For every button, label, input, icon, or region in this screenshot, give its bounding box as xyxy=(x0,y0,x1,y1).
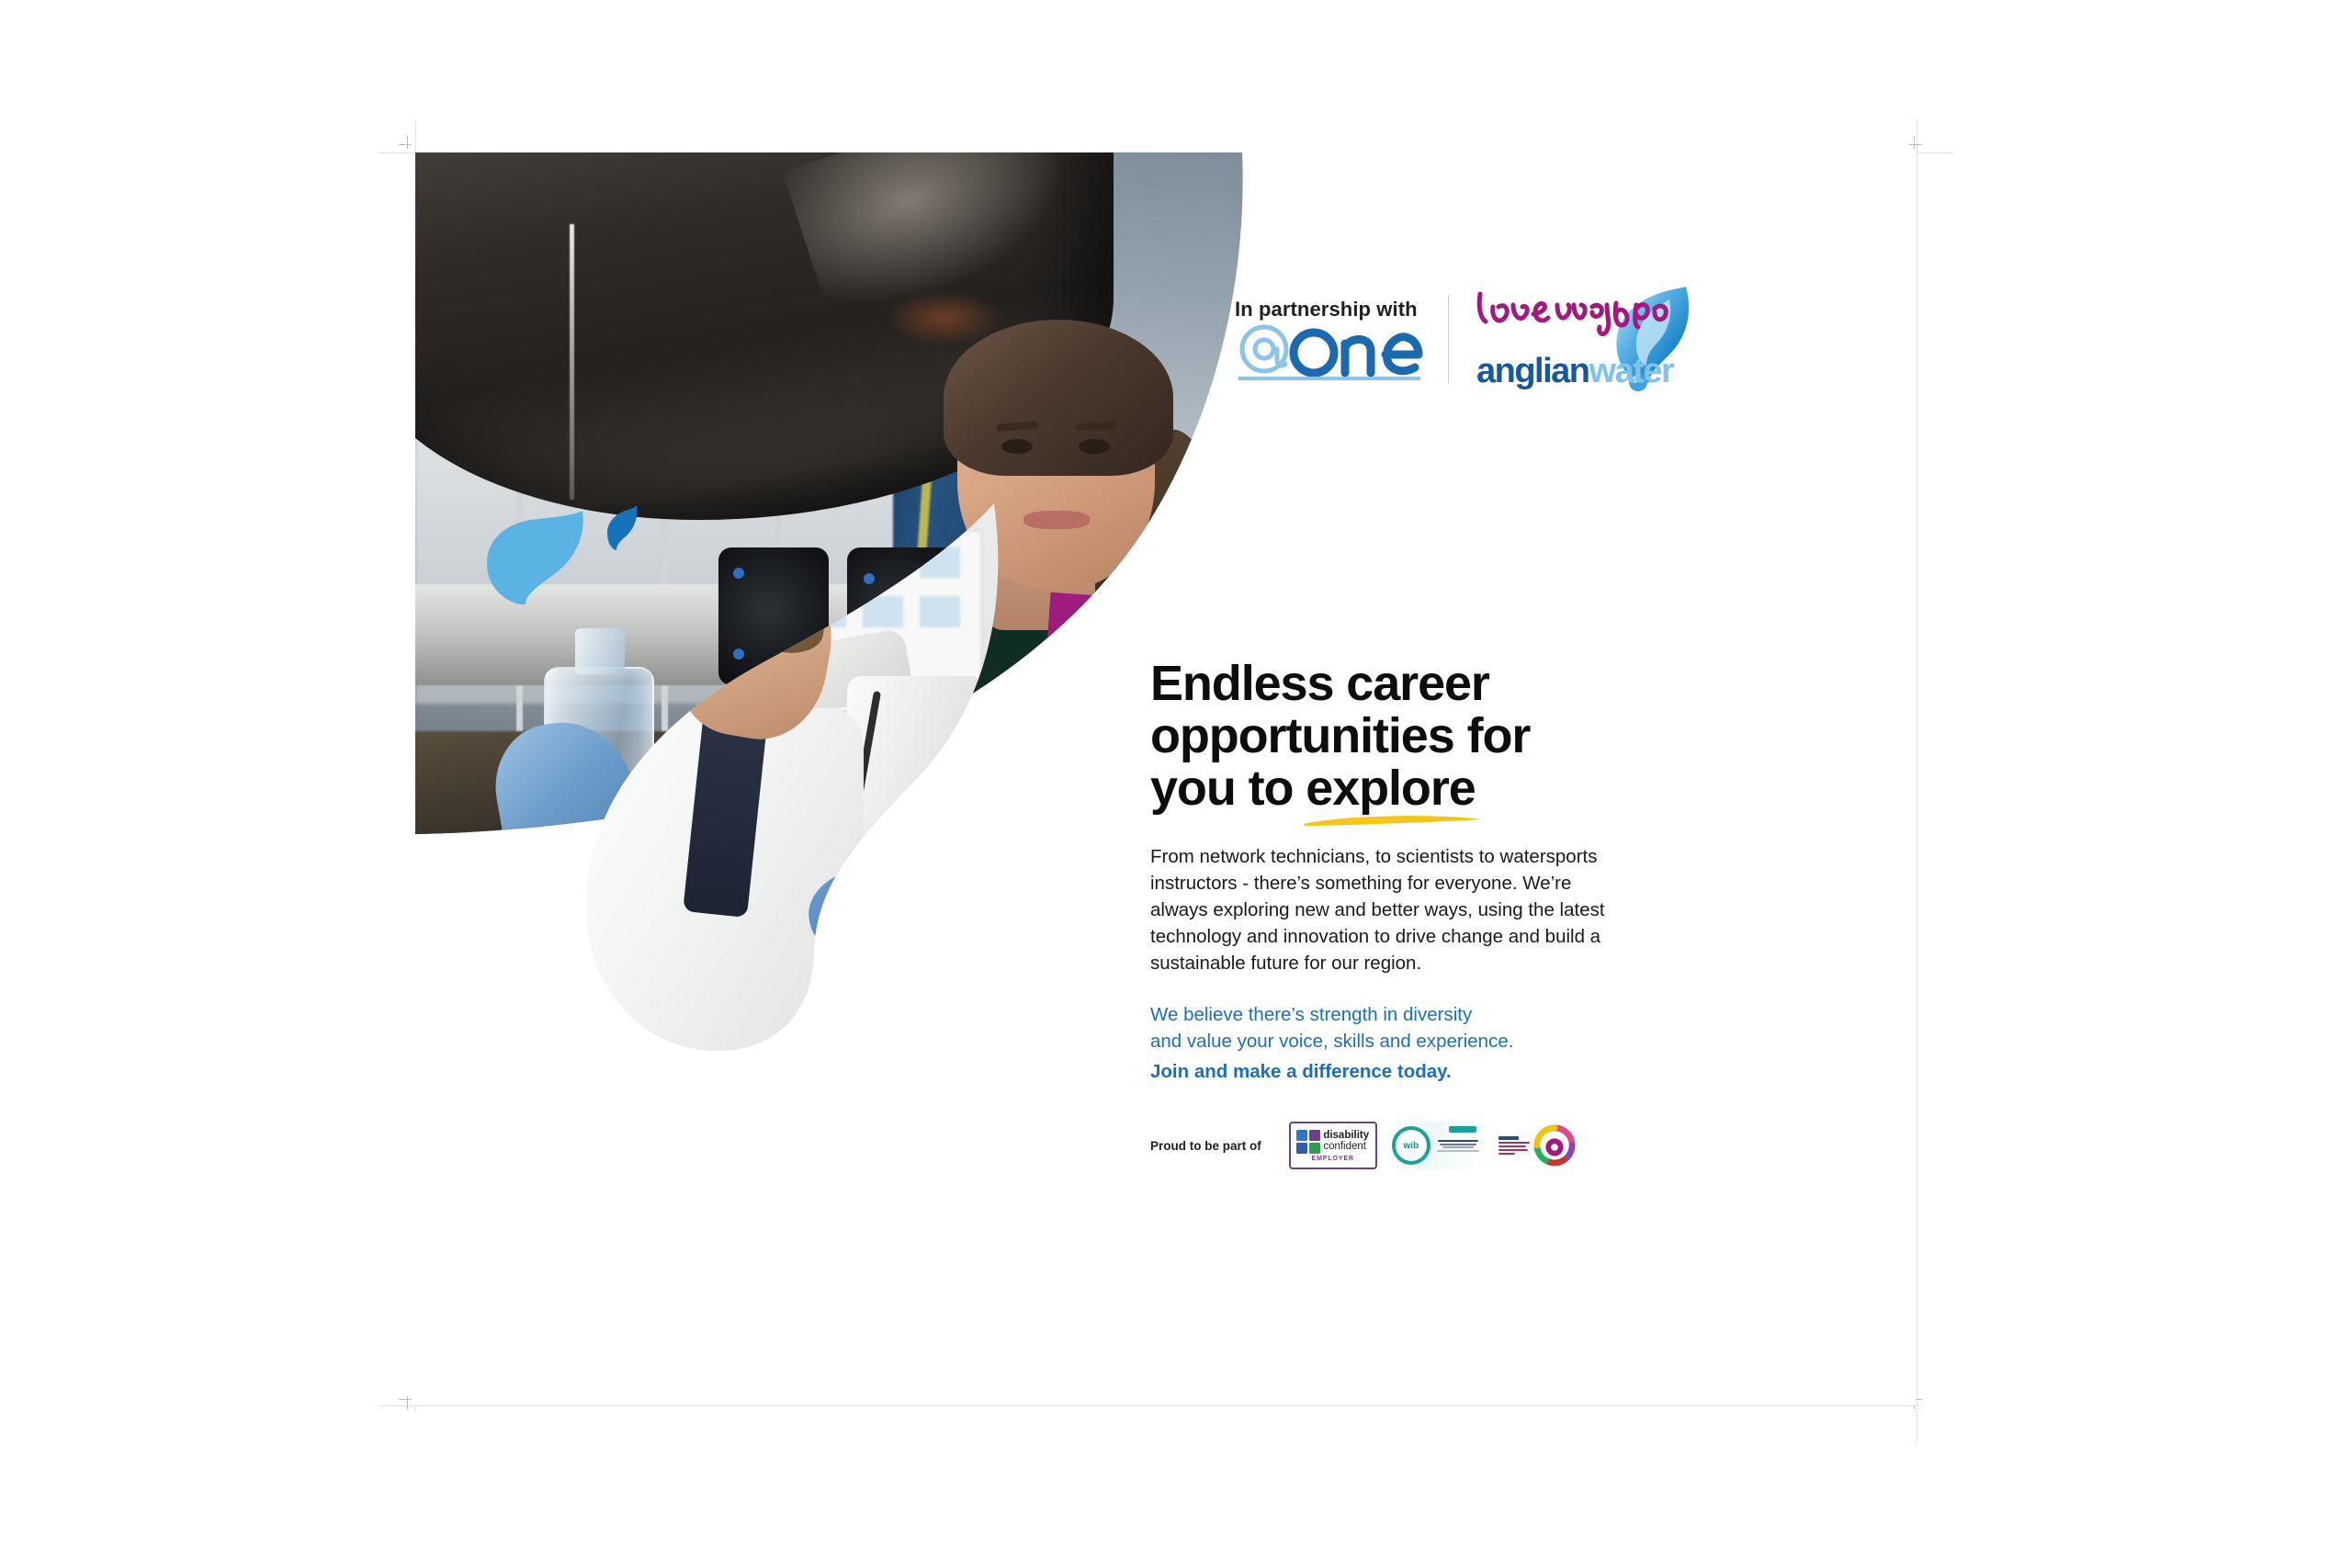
body-copy: From network technicians, to scientists … xyxy=(1150,843,1628,977)
page-title: Endless career opportunities for you to … xyxy=(1150,658,1665,816)
diversity-line-2: and value your voice, skills and experie… xyxy=(1150,1029,1665,1055)
anglian-water-wordmark-part1: anglian xyxy=(1473,403,1474,404)
wib-award-title: DIVERSITY & INCLUSION INITIATIVE OF THE … xyxy=(1392,1169,1393,1170)
microscope-objective-turret xyxy=(864,887,974,952)
crop-guide-bottom-h xyxy=(379,1405,1922,1406)
wib-award-frame: wib xyxy=(1392,1122,1484,1169)
logo-divider xyxy=(1448,295,1449,383)
call-to-action: Join and make a difference today. xyxy=(1150,1059,1665,1086)
dc-tile-navy-icon xyxy=(1296,1143,1307,1154)
microscope-body xyxy=(847,676,985,933)
technician-eye-right xyxy=(1079,439,1110,454)
anglian-water-logo: anglianwater love every drop anglian wat… xyxy=(1473,281,1699,397)
disability-confident-wordmark: disability confident xyxy=(1323,1131,1369,1152)
gender-equality-title: Proud to be one of The Times Top 50 Empl… xyxy=(1498,1169,1499,1170)
wib-award-footnote: Example of Diversity Initiative xyxy=(1392,1169,1393,1170)
anglian-water-wordmark-part2: water xyxy=(1473,403,1474,404)
headline-line-3-prefix: you to xyxy=(1150,761,1306,816)
accreditation-strip: Proud to be part of disabili xyxy=(1150,1122,1665,1169)
partner-logo-block: In partnership with xyxy=(1235,298,1424,380)
poster-artboard: In partnership with xyxy=(415,152,1917,1405)
partnership-label: In partnership with xyxy=(1235,298,1424,321)
gender-equality-text-lines xyxy=(1498,1136,1530,1155)
tablet-screen xyxy=(958,856,1164,878)
gender-equality-frame xyxy=(1498,1122,1579,1169)
wib-award-text-lines xyxy=(1433,1140,1484,1152)
disability-confident-frame: disability confident EMPLOYER xyxy=(1289,1122,1377,1169)
hi-vis-reflective-strip-right xyxy=(1128,607,1219,651)
technician-eye-left xyxy=(1001,439,1033,454)
wib-award-subtitle: Anglian Water xyxy=(1392,1169,1393,1170)
rugged-tablet xyxy=(940,839,1185,878)
accreditations-label: Proud to be part of xyxy=(1150,1139,1261,1153)
dc-tile-purple-icon xyxy=(1309,1130,1320,1141)
at-one-logo xyxy=(1235,323,1424,380)
wib-diversity-inclusion-award-badge: wib DIVERSITY & INCLUSION INITIATIVE OF … xyxy=(1392,1122,1484,1169)
dc-level-label: EMPLOYER xyxy=(1312,1156,1354,1162)
water-drip-stream xyxy=(570,224,574,500)
gender-equality-ring-icon xyxy=(1533,1124,1576,1167)
water-drop-decoration-small xyxy=(606,503,639,551)
dc-tile-green-icon xyxy=(1309,1143,1320,1154)
headline-line-1: Endless career xyxy=(1150,658,1665,710)
times-top-50-employers-gender-equality-badge: Proud to be one of The Times Top 50 Empl… xyxy=(1498,1122,1579,1169)
highlight-underline-icon xyxy=(1302,812,1485,827)
svg-text:anglianwater: anglianwater xyxy=(1476,352,1675,390)
diversity-line-1: We believe there’s strength in diversity xyxy=(1150,1002,1665,1029)
wib-award-seal-icon: wib xyxy=(1392,1126,1430,1165)
headline-line-2: opportunities for xyxy=(1150,710,1665,762)
dc-tile-blue-icon xyxy=(1296,1130,1307,1141)
microscope-base xyxy=(808,928,992,992)
crop-guide-right-v xyxy=(1917,119,1917,1442)
anglian-water-tagline: love every drop xyxy=(1473,403,1474,404)
wib-award-ribbon xyxy=(1449,1126,1476,1133)
headline-highlight-word: explore xyxy=(1306,761,1475,816)
water-drop-decoration-large xyxy=(485,507,588,610)
disability-confident-icon-tiles xyxy=(1296,1130,1320,1154)
disability-confident-top: disability confident xyxy=(1296,1130,1369,1154)
poster-root: In partnership with xyxy=(0,0,2352,1568)
disability-confident-employer-badge: disability confident EMPLOYER xyxy=(1289,1122,1377,1169)
diversity-statement: We believe there’s strength in diversity… xyxy=(1150,1002,1665,1085)
copy-column: Endless career opportunities for you to … xyxy=(1150,658,1665,1169)
technician-hair xyxy=(944,320,1173,476)
technician-id-badge xyxy=(1057,847,1110,878)
headline-highlight-wrap: explore xyxy=(1306,762,1475,815)
headline-line-3: you to explore xyxy=(1150,762,1665,815)
wib-seal-text: wib xyxy=(1403,1141,1419,1151)
dc-title-regular: confident xyxy=(1323,1142,1369,1153)
logo-lockup: In partnership with xyxy=(1235,281,1699,397)
technician-lips xyxy=(1023,511,1090,529)
